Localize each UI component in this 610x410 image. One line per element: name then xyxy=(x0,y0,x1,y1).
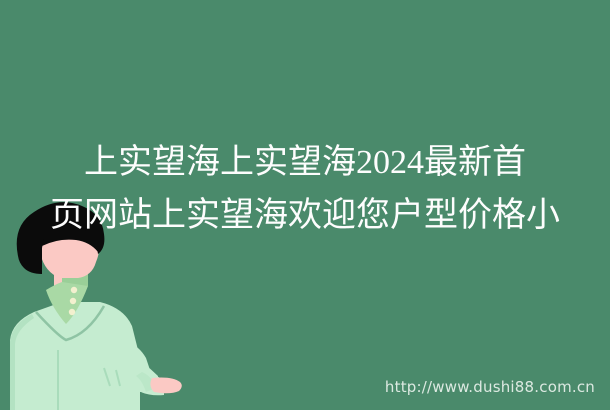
collar-button-3 xyxy=(69,309,75,315)
watermark-url: http://www.dushi88.com.cn xyxy=(385,378,595,396)
headline-text: 上实望海上实望海2024最新首 页网站上实望海欢迎您户型价格小 xyxy=(0,136,610,242)
headline-line-1: 上实望海上实望海2024最新首 xyxy=(0,136,610,189)
collar-button-2 xyxy=(70,298,76,304)
hand-shape xyxy=(150,378,181,394)
headline-line-2: 页网站上实望海欢迎您户型价格小 xyxy=(0,189,610,242)
promo-banner: 上实望海上实望海2024最新首 页网站上实望海欢迎您户型价格小 http://w… xyxy=(0,0,610,410)
collar-button-1 xyxy=(71,287,77,293)
